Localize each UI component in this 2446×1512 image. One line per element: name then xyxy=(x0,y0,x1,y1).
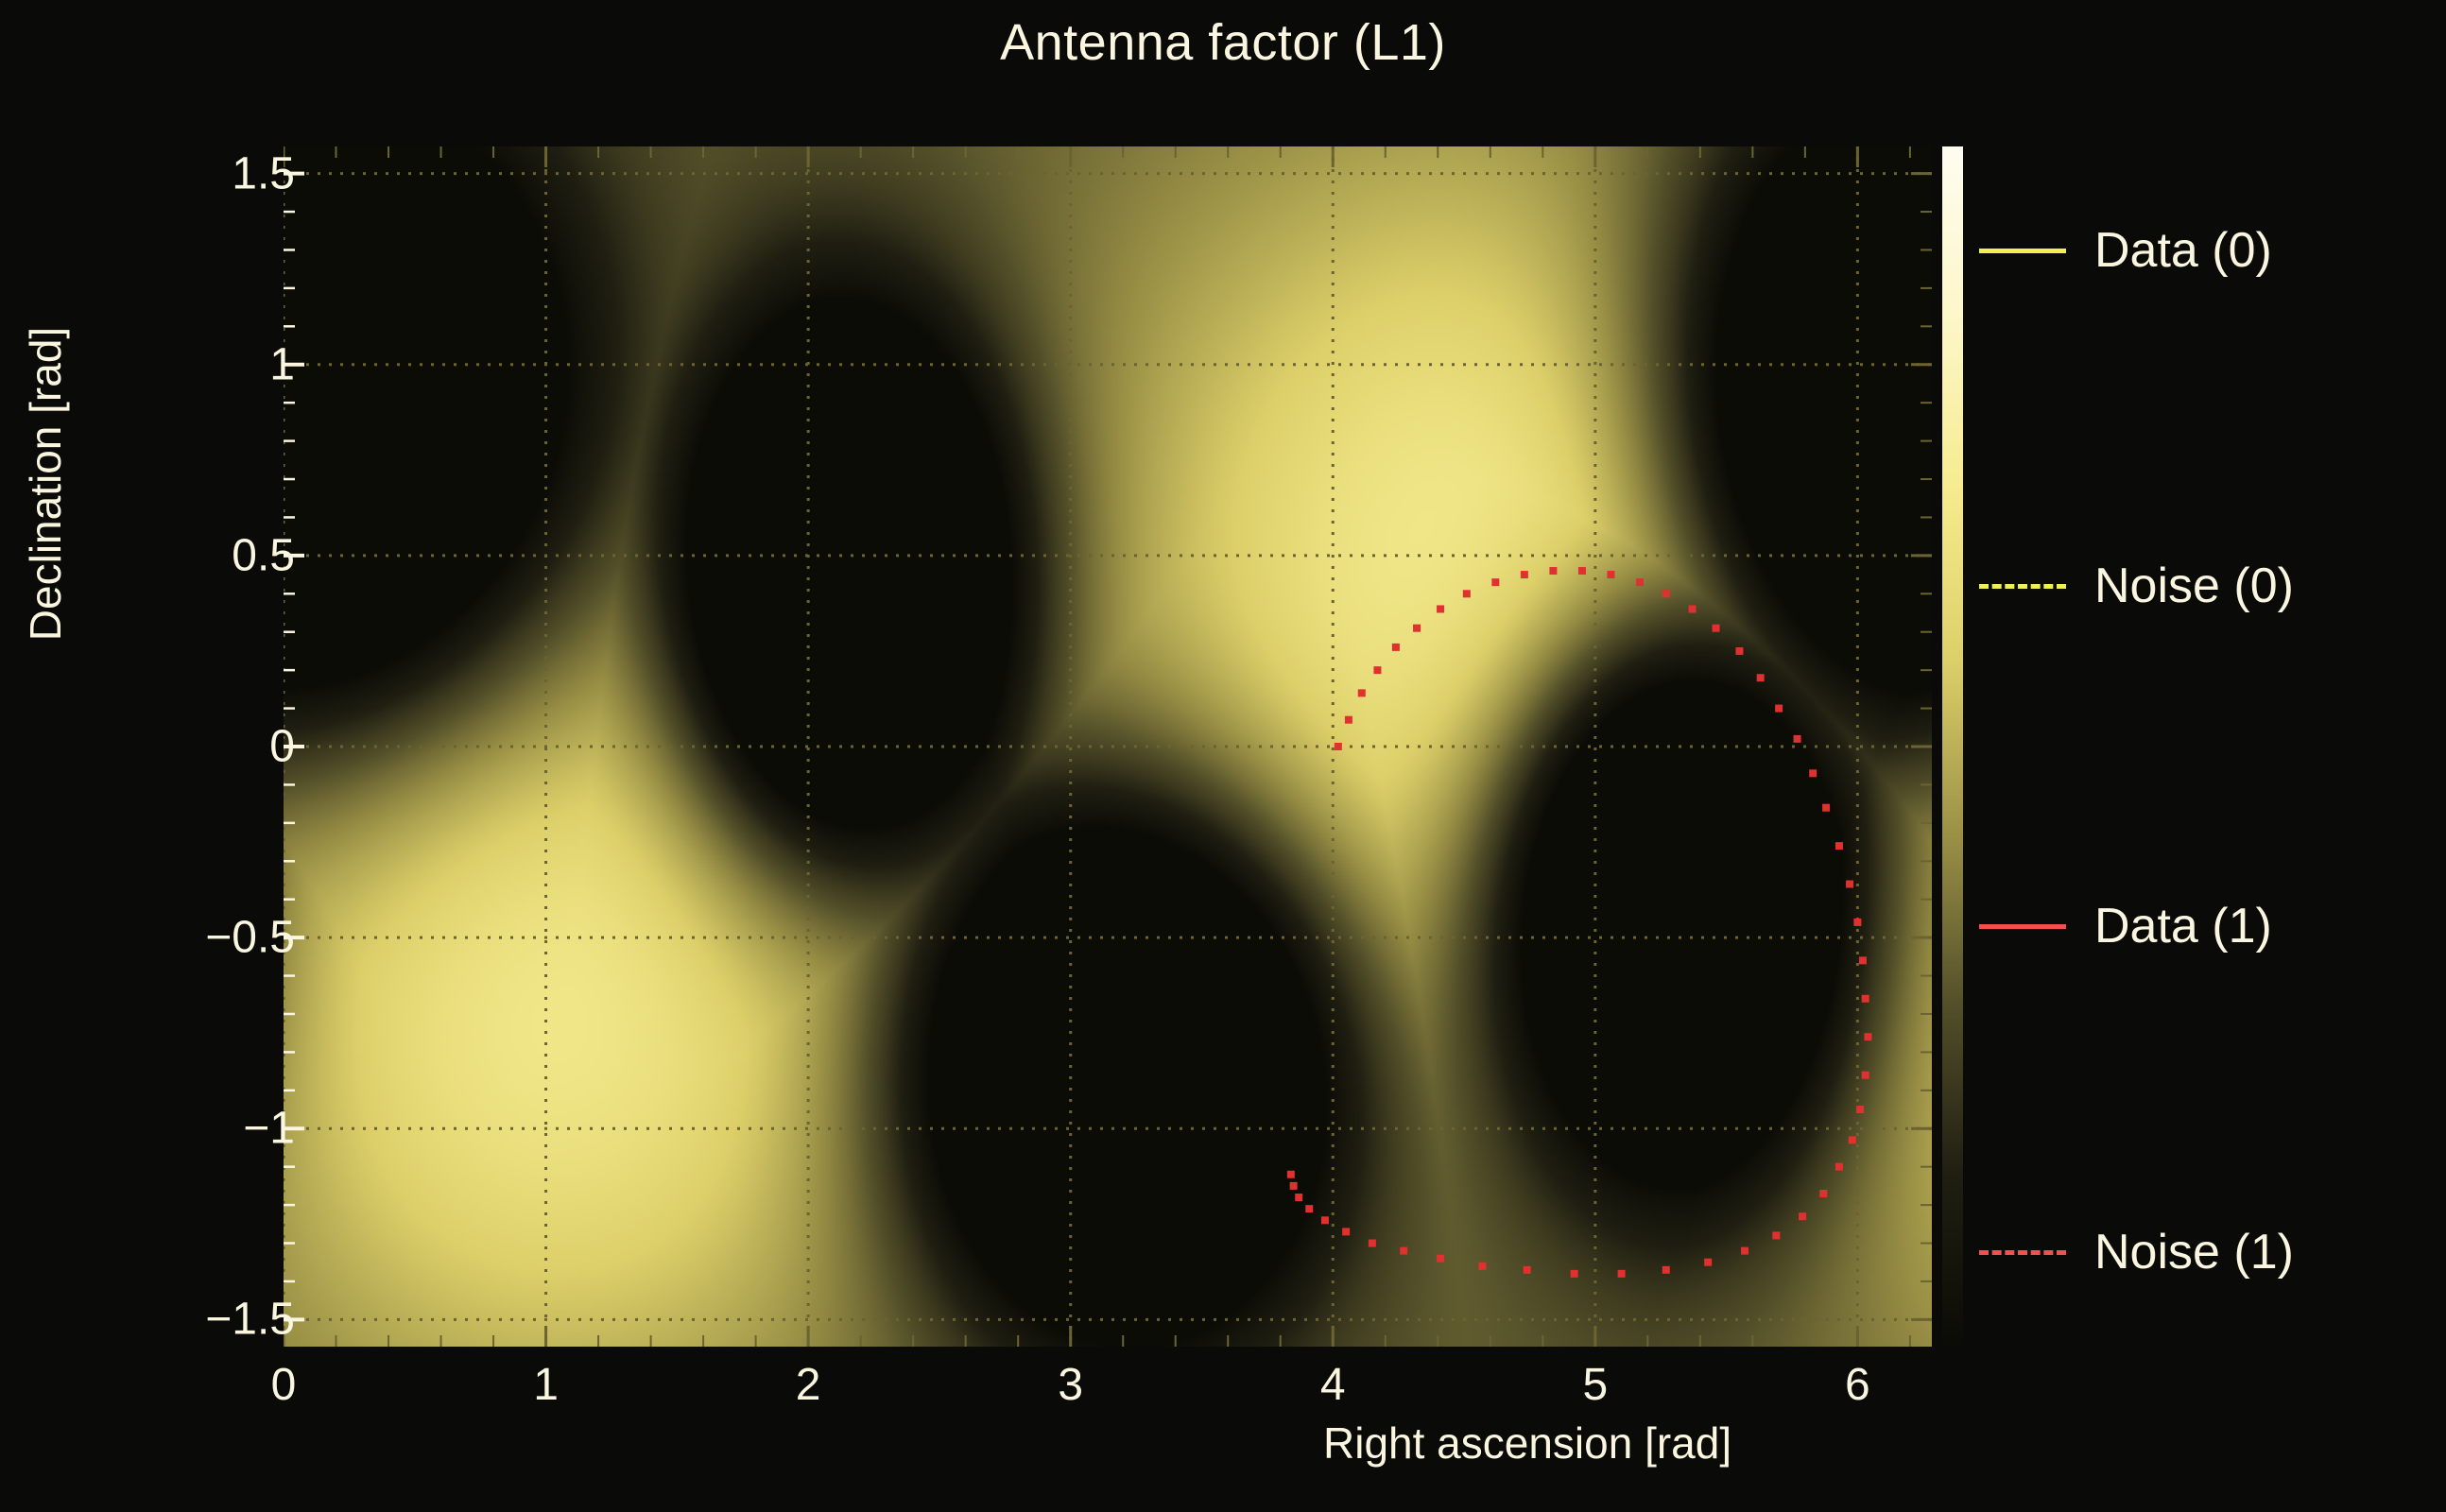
legend-label: Data (1) xyxy=(2094,902,2272,951)
y-axis-label: Declination [rad] xyxy=(17,146,74,1347)
legend-solid-line-icon xyxy=(1979,249,2066,253)
legend-dashed-line-icon xyxy=(1979,584,2066,589)
x-tick-label: 4 xyxy=(1320,1359,1346,1411)
y-tick-label: 0 xyxy=(269,721,295,773)
y-tick-label: −1.5 xyxy=(205,1294,295,1346)
legend-entry-data-1[interactable]: Data (1) xyxy=(1979,893,2414,959)
legend-dashed-line-icon xyxy=(1979,1250,2066,1255)
colorbar xyxy=(1942,146,1963,1347)
x-tick-label: 6 xyxy=(1845,1359,1870,1411)
x-tick-label: 2 xyxy=(796,1359,821,1411)
y-tick-label: 0.5 xyxy=(232,529,295,581)
y-axis-label-text: Declination [rad] xyxy=(20,327,71,641)
legend-solid-line-icon xyxy=(1979,924,2066,929)
x-tick-label: 3 xyxy=(1058,1359,1083,1411)
plot-canvas-root: Antenna factor (L1) Declination [rad] Ri… xyxy=(0,0,2446,1512)
colorbar-gradient xyxy=(1942,146,1963,1347)
y-tick-label: 1 xyxy=(269,338,295,390)
legend-entry-data-0[interactable]: Data (0) xyxy=(1979,217,2414,283)
legend-label: Data (0) xyxy=(2094,226,2272,275)
y-tick-label: −0.5 xyxy=(205,912,295,964)
y-tick-label: 1.5 xyxy=(232,147,295,199)
x-tick-label: 5 xyxy=(1582,1359,1608,1411)
legend-entry-noise-1[interactable]: Noise (1) xyxy=(1979,1219,2414,1285)
legend[interactable]: Data (0)Noise (0)Data (1)Noise (1) xyxy=(1979,146,2414,1347)
x-tick-label: 1 xyxy=(533,1359,559,1411)
heatmap-plot-area[interactable] xyxy=(284,146,1932,1347)
x-tick-label: 0 xyxy=(271,1359,297,1411)
legend-label: Noise (0) xyxy=(2094,561,2294,610)
legend-label: Noise (1) xyxy=(2094,1228,2294,1277)
overlay-curves xyxy=(284,146,1932,1347)
y-tick-label: −1 xyxy=(243,1103,295,1155)
legend-entry-noise-0[interactable]: Noise (0) xyxy=(1979,553,2414,619)
x-axis-label: Right ascension [rad] xyxy=(1323,1417,1731,1469)
page-title: Antenna factor (L1) xyxy=(0,13,2446,72)
